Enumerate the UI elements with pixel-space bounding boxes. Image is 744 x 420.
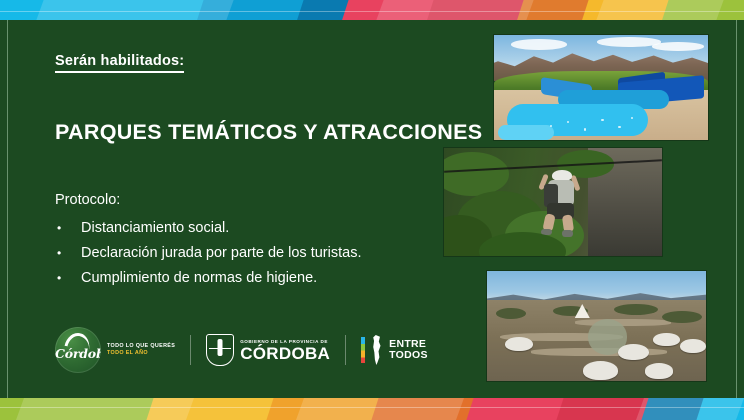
- government-wordmark: GOBIERNO DE LA PROVINCIA DE CÓRDOBA: [240, 339, 330, 362]
- dome-cabin: [645, 363, 673, 378]
- government-logo: GOBIERNO DE LA PROVINCIA DE CÓRDOBA: [206, 334, 330, 366]
- zipline-rider: [540, 170, 584, 237]
- top-color-bar: [0, 0, 744, 20]
- list-item-label: Cumplimiento de normas de higiene.: [81, 270, 317, 286]
- page-title: PARQUES TEMÁTICOS Y ATRACCIONES: [55, 120, 482, 145]
- coat-of-arms-icon: [206, 334, 234, 366]
- logo-divider: [345, 335, 346, 365]
- aerial-park-photo: [487, 271, 706, 381]
- shield-band-icon: [209, 348, 231, 349]
- bar-highlight-line: [0, 407, 744, 408]
- slide: Serán habilitados: PARQUES TEMÁTICOS Y A…: [0, 0, 744, 420]
- cloud-shape: [511, 39, 567, 50]
- frame-line-right: [736, 20, 737, 398]
- cordoba-tagline-line2: TODO EL AÑO: [107, 350, 175, 357]
- government-eyebrow: GOBIERNO DE LA PROVINCIA DE: [240, 339, 330, 344]
- dome-cabin: [653, 333, 679, 346]
- cordoba-badge-icon: Córdoba: [55, 327, 101, 373]
- cordoba-tagline: TODO LO QUE QUERÉS TODO EL AÑO: [107, 343, 175, 357]
- dome-cabin: [680, 339, 706, 353]
- dome-cabin: [618, 344, 649, 361]
- bar-shine-3: [596, 0, 723, 20]
- list-item-label: Declaración jurada por parte de los turi…: [81, 245, 361, 261]
- cloud-shape: [597, 37, 661, 46]
- entre-todos-line2: TODOS: [389, 350, 428, 361]
- entre-todos-logo: ENTRE TODOS: [361, 335, 428, 365]
- logo-divider: [190, 335, 191, 365]
- entre-todos-wordmark: ENTRE TODOS: [389, 339, 428, 361]
- list-item-label: Distanciamiento social.: [81, 220, 229, 236]
- tree-cluster: [614, 304, 658, 315]
- bullet-icon: •: [57, 216, 61, 241]
- protocol-label: Protocolo:: [55, 192, 120, 208]
- list-item: • Distanciamiento social.: [55, 216, 361, 241]
- government-name: CÓRDOBA: [240, 345, 330, 362]
- kicker-text: Serán habilitados:: [55, 54, 184, 73]
- bullet-icon: •: [57, 266, 61, 291]
- bar-shine-2: [296, 398, 464, 420]
- protocol-list: • Distanciamiento social. • Declaración …: [55, 216, 361, 291]
- water-park-photo: [494, 35, 708, 140]
- bullet-icon: •: [57, 241, 61, 266]
- color-stripe-icon: [361, 337, 365, 363]
- cloud-shape: [652, 42, 703, 50]
- dome-cabin: [583, 361, 618, 380]
- bar-highlight-line: [0, 11, 744, 12]
- zipline-photo: [444, 148, 662, 256]
- list-item: • Declaración jurada por parte de los tu…: [55, 241, 361, 266]
- cordoba-wordmark: Córdoba: [55, 346, 101, 361]
- bottom-color-bar: [0, 398, 744, 420]
- argentina-map-icon: [370, 335, 384, 365]
- pool-small: [498, 125, 554, 140]
- bar-shine-1: [16, 398, 194, 420]
- cordoba-tagline-line1: TODO LO QUE QUERÉS: [107, 343, 175, 350]
- dome-cabin: [505, 337, 533, 351]
- text-column: Serán habilitados: PARQUES TEMÁTICOS Y A…: [0, 20, 430, 398]
- logo-strip: Córdoba TODO LO QUE QUERÉS TODO EL AÑO G…: [55, 326, 428, 374]
- swimmer-dot: [601, 119, 604, 122]
- tree-cluster: [662, 311, 701, 323]
- bar-shine-2: [376, 0, 533, 20]
- bar-shine-1: [36, 0, 233, 20]
- cordoba-tourism-logo: Córdoba TODO LO QUE QUERÉS TODO EL AÑO: [55, 327, 175, 373]
- list-item: • Cumplimiento de normas de higiene.: [55, 266, 361, 291]
- rider-shoe: [562, 230, 573, 237]
- bar-shine-3: [636, 398, 744, 420]
